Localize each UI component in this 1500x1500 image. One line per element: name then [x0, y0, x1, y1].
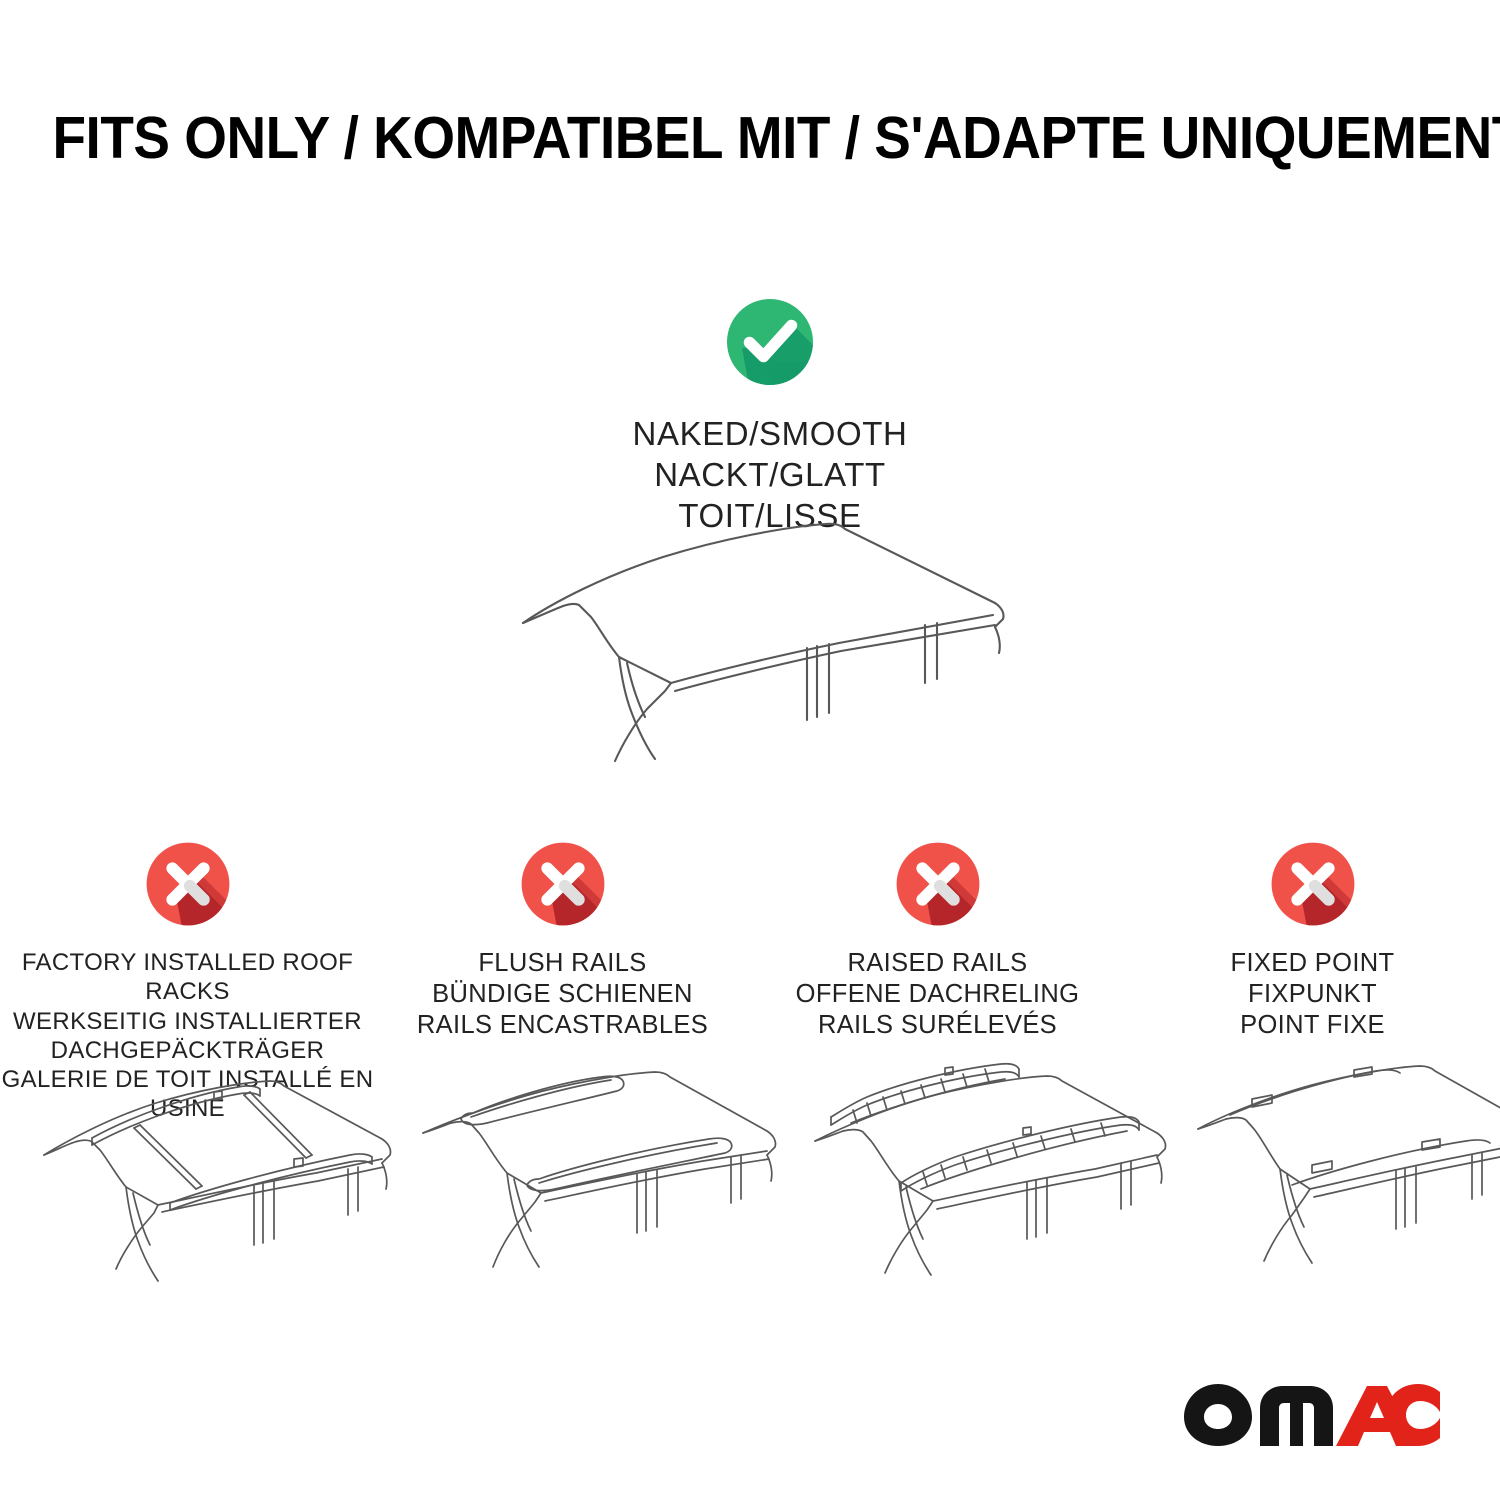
- not-compatible-label: FLUSH RAILS BÜNDIGE SCHIENEN RAILS ENCAS…: [417, 948, 708, 1041]
- cross-circle-icon: [142, 838, 234, 930]
- car-roof-naked-smooth-illustration: [495, 505, 1055, 805]
- compatible-label-line-de: NACKT/GLATT: [633, 455, 908, 496]
- not-compatible-item-raised-rails: RAISED RAILS OFFENE DACHRELING RAILS SUR…: [750, 838, 1125, 1041]
- car-roof-factory-rack-illustration: [30, 1055, 430, 1285]
- cross-circle-icon: [1267, 838, 1359, 930]
- compatible-section: NAKED/SMOOTH NACKT/GLATT TOIT/LISSE: [390, 292, 1150, 537]
- car-roof-flush-rails-illustration: [415, 1055, 815, 1285]
- label-line-en: RAISED RAILS: [796, 948, 1080, 979]
- cross-circle-icon: [517, 838, 609, 930]
- car-roof-raised-rails-illustration: [805, 1055, 1205, 1285]
- label-line-fr: POINT FIXE: [1231, 1010, 1395, 1041]
- compatible-label-line-en: NAKED/SMOOTH: [633, 414, 908, 455]
- omac-logo: [1182, 1382, 1442, 1448]
- check-circle-icon: [720, 292, 820, 392]
- label-line-fr: RAILS SURÉLEVÉS: [796, 1010, 1080, 1041]
- not-compatible-item-flush-rails: FLUSH RAILS BÜNDIGE SCHIENEN RAILS ENCAS…: [375, 838, 750, 1041]
- not-compatible-label: FIXED POINT FIXPUNKT POINT FIXE: [1231, 948, 1395, 1041]
- label-line-de: FIXPUNKT: [1231, 979, 1395, 1010]
- label-line-en: FIXED POINT: [1231, 948, 1395, 979]
- label-line-de: OFFENE DACHRELING: [796, 979, 1080, 1010]
- cross-circle-icon: [892, 838, 984, 930]
- not-compatible-label: RAISED RAILS OFFENE DACHRELING RAILS SUR…: [796, 948, 1080, 1041]
- car-roof-fixed-point-illustration: [1160, 1055, 1500, 1285]
- label-line-de: BÜNDIGE SCHIENEN: [417, 979, 708, 1010]
- not-compatible-item-fixed-point: FIXED POINT FIXPUNKT POINT FIXE: [1125, 838, 1500, 1041]
- label-line-de-1: WERKSEITIG INSTALLIERTER: [0, 1007, 375, 1036]
- label-line-fr: RAILS ENCASTRABLES: [417, 1010, 708, 1041]
- label-line-en: FACTORY INSTALLED ROOF RACKS: [0, 948, 375, 1007]
- page-title: FITS ONLY / KOMPATIBEL MIT / S'ADAPTE UN…: [53, 104, 1448, 172]
- label-line-en: FLUSH RAILS: [417, 948, 708, 979]
